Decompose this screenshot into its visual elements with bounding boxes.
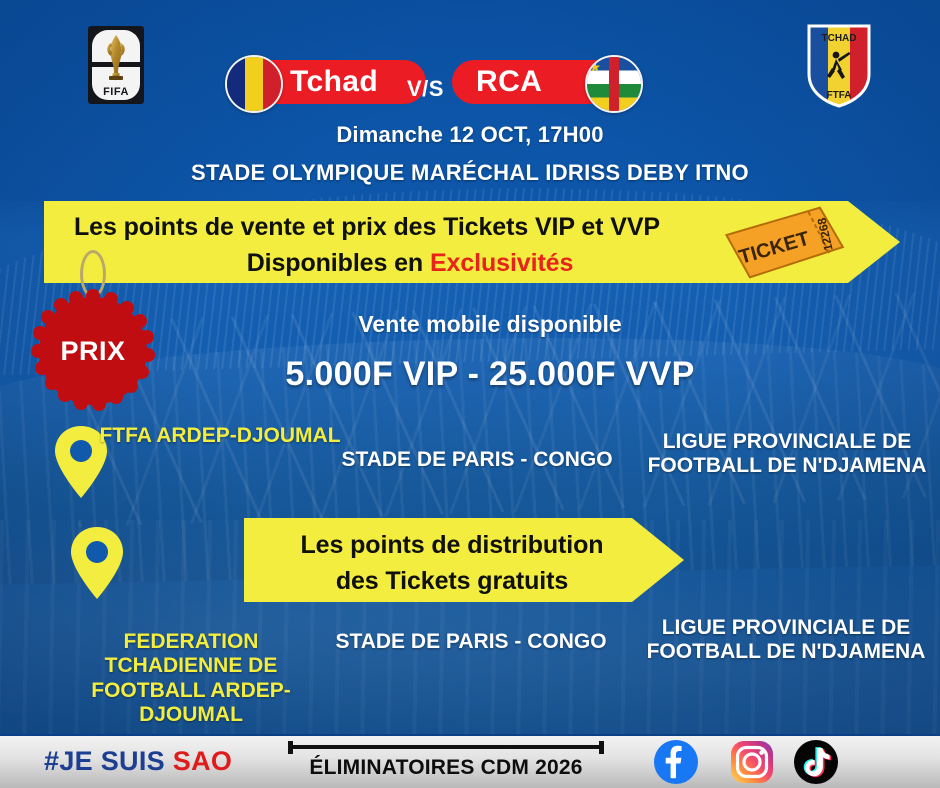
tiktok-icon[interactable] [792,738,840,786]
home-team-label: Tchad [290,65,378,99]
central-african-republic-flag-icon [585,55,643,113]
mobile-sale-note: Vente mobile disponible [180,311,800,338]
match-date: Dimanche 12 OCT, 17H00 [0,122,940,148]
prix-badge: PRIX [30,288,156,414]
free-point-3: LIGUE PROVINCIALE DE FOOTBALL DE N'DJAME… [636,616,936,665]
hashtag-accent: SAO [173,746,232,776]
campaign-bracket-icon [286,741,606,753]
free-banner-line1: Les points de distribution [262,531,642,560]
free-point-1: FEDERATION TCHADIENNE DE FOOTBALL ARDEP-… [56,630,326,727]
instagram-icon[interactable] [728,738,776,786]
map-pin-icon-free [68,525,126,601]
facebook-icon[interactable] [652,738,700,786]
campaign-label-group: ÉLIMINATOIRES CDM 2026 [286,741,606,780]
sale-banner-line1: Les points de vente et prix des Tickets … [60,213,774,242]
ftfa-federation-crest-icon: TCHAD FTFA [805,22,873,108]
ticket-prices: 5.000F VIP - 25.000F VVP [180,355,800,394]
bracket-right-cap [599,741,604,754]
bracket-line [292,745,600,749]
free-banner-line2: des Tickets gratuits [262,567,642,596]
prix-badge-label: PRIX [30,288,156,414]
free-tickets-banner: Les points de distribution des Tickets g… [244,518,684,602]
away-team-label: RCA [476,65,542,99]
chad-flag-icon [225,55,283,113]
match-venue: STADE OLYMPIQUE MARÉCHAL IDRISS DEBY ITN… [0,160,940,186]
svg-text:TCHAD: TCHAD [822,33,857,44]
footer-bar: #JE SUIS SAO ÉLIMINATOIRES CDM 2026 [0,734,940,788]
sale-banner-exclusivity: Exclusivités [430,249,573,277]
free-point-2: STADE DE PARIS - CONGO [318,630,624,654]
match-poster: FIFA TCHAD FTFA Tchad RCA [0,0,940,788]
versus-label: V/S [407,76,444,102]
sale-point-1: FTFA ARDEP-DJOUMAL [90,424,350,448]
sale-banner-line2: Disponibles en Exclusivités [60,249,760,278]
fifa-wordmark: FIFA [88,86,144,98]
campaign-label: ÉLIMINATOIRES CDM 2026 [286,756,606,780]
world-cup-trophy-icon [103,33,129,89]
svg-text:FTFA: FTFA [827,90,852,101]
campaign-hashtag: #JE SUIS SAO [44,746,232,777]
fifa-world-cup-2026-logo: FIFA [88,26,144,104]
hashtag-prefix: #JE SUIS [44,746,173,776]
sale-point-3: LIGUE PROVINCIALE DE FOOTBALL DE N'DJAME… [638,430,936,479]
sale-point-2: STADE DE PARIS - CONGO [322,448,632,472]
sale-banner-line2-prefix: Disponibles en [247,249,430,277]
